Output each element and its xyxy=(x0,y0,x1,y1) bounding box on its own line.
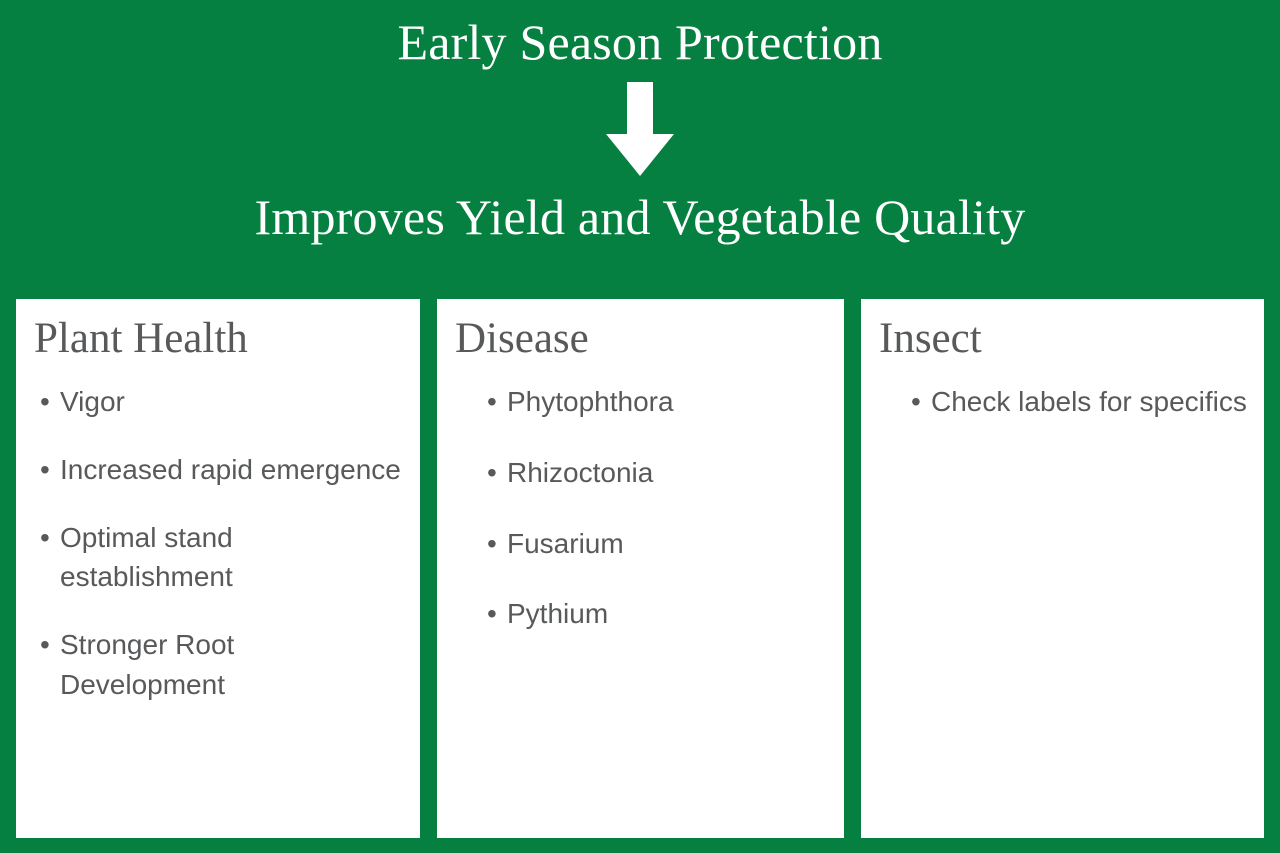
bullet-list-insect: • Check labels for specifics xyxy=(877,382,1250,422)
column-plant-health: Plant Health • Vigor • Increased rapid e… xyxy=(16,299,420,838)
column-disease: Disease • Phytophthora • Rhizoctonia • F… xyxy=(437,299,844,838)
bullet-list-disease: • Phytophthora • Rhizoctonia • Fusarium … xyxy=(453,382,830,634)
list-item: • Check labels for specifics xyxy=(903,382,1250,422)
column-divider-2 xyxy=(844,299,861,838)
column-heading-plant-health: Plant Health xyxy=(34,317,406,360)
bullet-dot-icon: • xyxy=(911,382,921,422)
bullet-dot-icon: • xyxy=(40,450,50,490)
list-item: • Pythium xyxy=(479,594,830,634)
bullet-dot-icon: • xyxy=(487,382,497,422)
slide-root: Early Season Protection Improves Yield a… xyxy=(0,0,1280,853)
list-item-label: Vigor xyxy=(60,386,125,417)
list-item-label: Fusarium xyxy=(507,528,624,559)
columns-container: Plant Health • Vigor • Increased rapid e… xyxy=(0,299,1280,853)
list-item-label: Check labels for specifics xyxy=(931,386,1247,417)
column-insect: Insect • Check labels for specifics xyxy=(861,299,1264,838)
bullet-dot-icon: • xyxy=(487,594,497,634)
page-title: Early Season Protection xyxy=(397,16,882,69)
arrow-container xyxy=(606,81,674,177)
slide-header: Early Season Protection Improves Yield a… xyxy=(0,0,1280,297)
page-subtitle: Improves Yield and Vegetable Quality xyxy=(255,191,1026,244)
column-divider-1 xyxy=(420,299,437,838)
list-item: • Fusarium xyxy=(479,524,830,564)
bullet-dot-icon: • xyxy=(487,524,497,564)
list-item: • Vigor xyxy=(32,382,406,422)
bullet-dot-icon: • xyxy=(40,518,50,558)
list-item: • Phytophthora xyxy=(479,382,830,422)
list-item-label: Rhizoctonia xyxy=(507,457,653,488)
list-item: • Optimal stand establishment xyxy=(32,518,406,598)
column-heading-disease: Disease xyxy=(455,317,830,360)
list-item-label: Stronger Root Development xyxy=(60,629,234,700)
bullet-list-plant-health: • Vigor • Increased rapid emergence • Op… xyxy=(32,382,406,705)
list-item-label: Increased rapid emergence xyxy=(60,454,401,485)
list-item: • Stronger Root Development xyxy=(32,625,406,705)
column-heading-insect: Insect xyxy=(879,317,1250,360)
bullet-dot-icon: • xyxy=(487,453,497,493)
list-item: • Increased rapid emergence xyxy=(32,450,406,490)
list-item-label: Phytophthora xyxy=(507,386,674,417)
bullet-dot-icon: • xyxy=(40,382,50,422)
down-arrow-icon xyxy=(606,82,674,176)
list-item-label: Optimal stand establishment xyxy=(60,522,233,593)
bullet-dot-icon: • xyxy=(40,625,50,665)
list-item: • Rhizoctonia xyxy=(479,453,830,493)
list-item-label: Pythium xyxy=(507,598,608,629)
